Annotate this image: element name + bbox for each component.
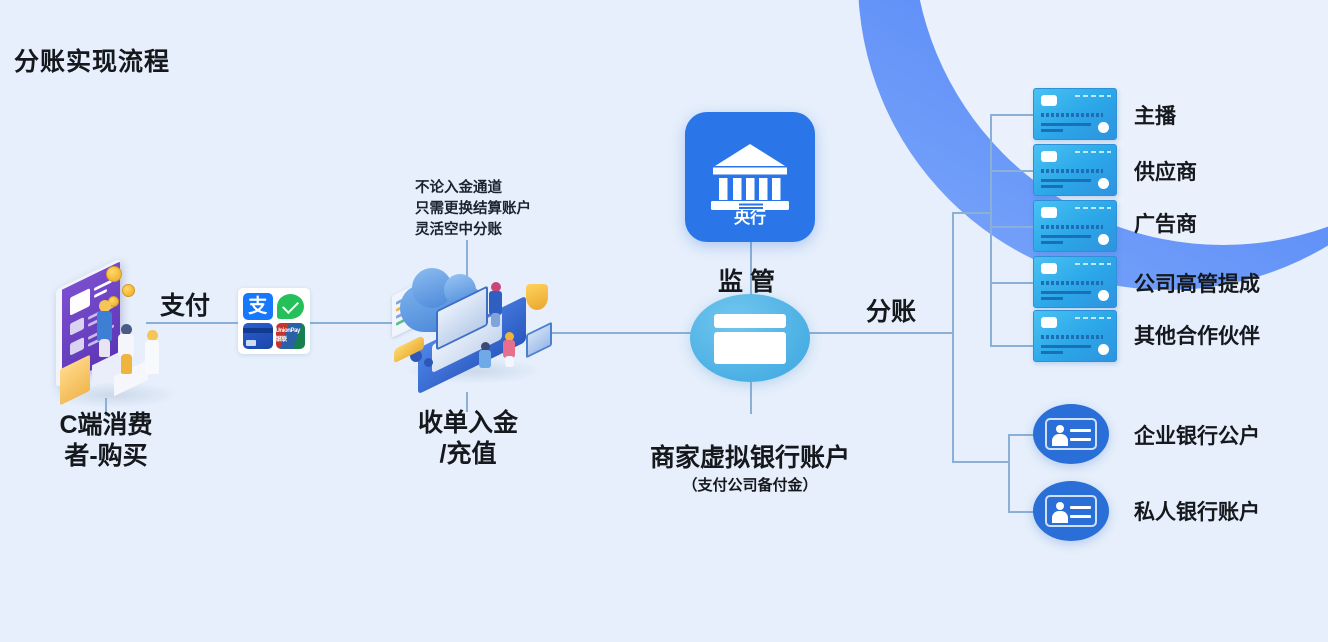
connector-payicons-to-acquiring xyxy=(310,322,396,324)
edge-label-split: 分账 xyxy=(866,292,916,328)
connector-card-3 xyxy=(990,226,1034,228)
id-bracket-spine xyxy=(1008,434,1010,512)
connector-card-4 xyxy=(990,282,1034,284)
corner-arc-white xyxy=(913,0,1328,245)
unionpay-icon: UnionPay 银联 xyxy=(276,323,306,350)
recipient-card-4[interactable] xyxy=(1033,310,1117,362)
virtual-account-node[interactable] xyxy=(690,294,810,382)
caption-virtual-account-sub: （支付公司备付金） xyxy=(600,477,900,495)
recipient-card-label-1: 供应商 xyxy=(1134,156,1197,186)
recipient-account-0[interactable] xyxy=(1033,404,1109,464)
cloud-platform-illustration xyxy=(392,270,552,390)
split-trunk-upper xyxy=(952,212,954,334)
unionpay-label: UnionPay 银联 xyxy=(276,323,306,350)
recipient-card-label-0: 主播 xyxy=(1134,100,1176,130)
recipient-card-label-3: 公司高管提成 xyxy=(1134,268,1260,298)
card-bracket-spine xyxy=(990,114,992,346)
id-card-icon xyxy=(1045,418,1097,450)
wallet-card-icon xyxy=(714,314,786,364)
recipient-account-label-0: 企业银行公户 xyxy=(1134,420,1260,450)
connector-card-1 xyxy=(990,114,1034,116)
connector-id-1 xyxy=(1008,434,1036,436)
central-bank-node[interactable]: 央行 xyxy=(685,112,815,242)
consumer-shopping-illustration xyxy=(44,262,184,412)
recipient-card-3[interactable] xyxy=(1033,256,1117,308)
payment-method-icons: 支 UnionPay 银联 xyxy=(238,288,310,354)
connector-acquiring-to-vaccount xyxy=(540,332,692,334)
recipient-account-label-1: 私人银行账户 xyxy=(1134,496,1260,526)
annotation-note: 不论入金通道 只需更换结算账户 灵活空中分账 xyxy=(415,178,531,241)
recipient-card-1[interactable] xyxy=(1033,144,1117,196)
recipient-card-label-2: 广告商 xyxy=(1134,208,1197,238)
diagram-canvas: 分账实现流程 支付 监 管 分账 不论入金通道 只需更换结算账户 灵活空中分账 xyxy=(0,0,1328,642)
connector-vaccount-to-caption xyxy=(750,382,752,414)
recipient-card-2[interactable] xyxy=(1033,200,1117,252)
recipient-account-1[interactable] xyxy=(1033,481,1109,541)
recipient-card-0[interactable] xyxy=(1033,88,1117,140)
alipay-icon: 支 xyxy=(243,293,273,320)
edge-label-supervise: 监 管 xyxy=(718,262,775,298)
caption-consumer: C端消费 者-购买 xyxy=(20,410,192,471)
caption-virtual-account-main: 商家虚拟银行账户 xyxy=(650,444,850,472)
central-bank-label: 央行 xyxy=(685,204,815,228)
connector-card-2 xyxy=(990,170,1034,172)
connector-card-5 xyxy=(990,345,1034,347)
split-trunk-lower xyxy=(952,332,954,462)
recipient-card-label-4: 其他合作伙伴 xyxy=(1134,320,1260,350)
id-card-icon xyxy=(1045,495,1097,527)
connector-to-id-bracket xyxy=(952,461,1010,463)
page-title: 分账实现流程 xyxy=(14,42,170,78)
caption-virtual-account: 商家虚拟银行账户 （支付公司备付金） xyxy=(600,412,900,526)
wechat-pay-icon xyxy=(276,293,306,320)
bank-card-icon xyxy=(243,323,273,350)
connector-vaccount-to-split xyxy=(808,332,954,334)
connector-to-card-bracket xyxy=(952,212,992,214)
caption-acquiring: 收单入金 /充值 xyxy=(382,408,554,469)
alipay-glyph: 支 xyxy=(243,293,273,320)
connector-id-2 xyxy=(1008,511,1036,513)
